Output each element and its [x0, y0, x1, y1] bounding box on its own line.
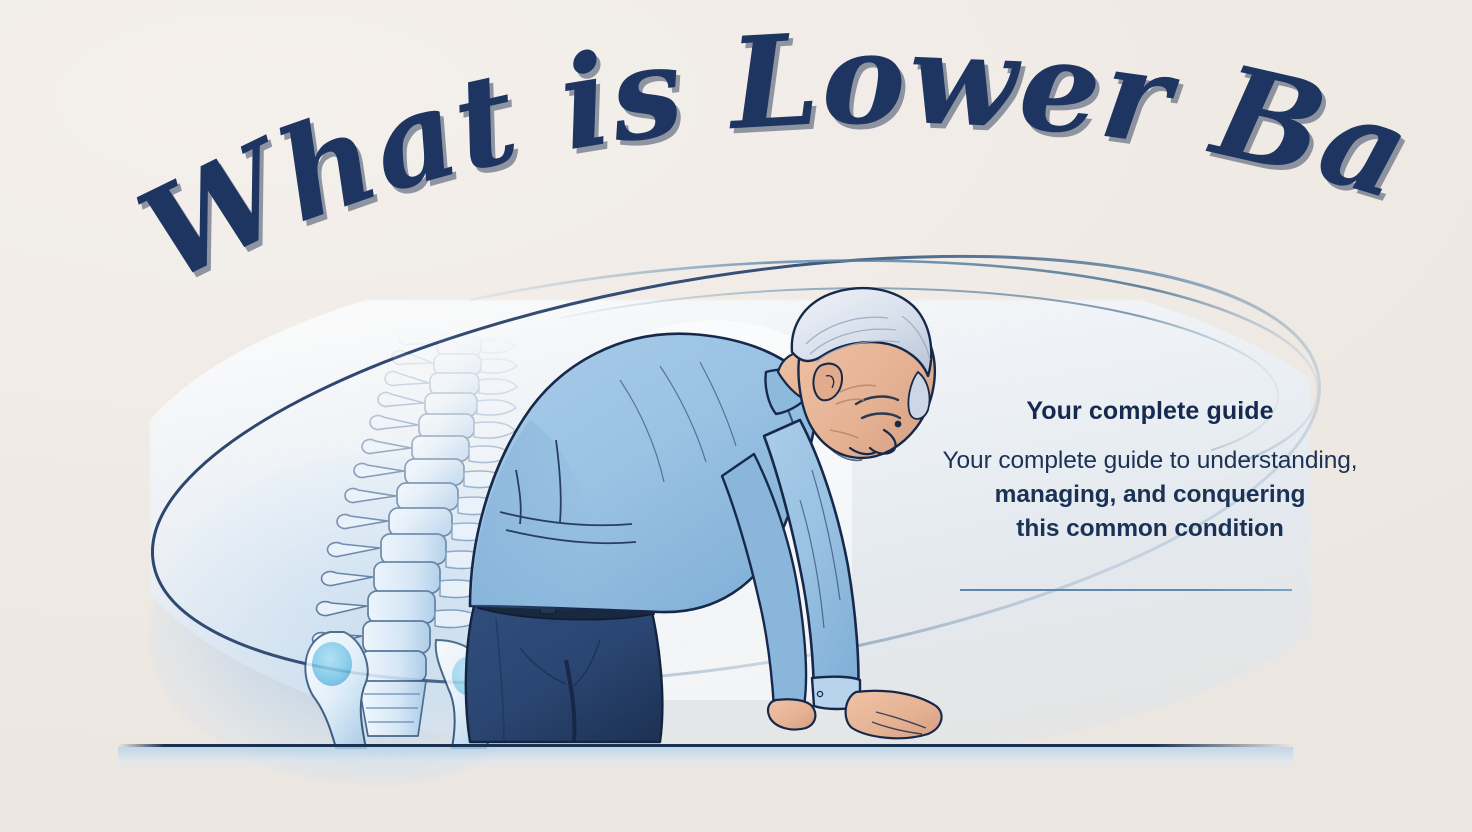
poster-title: What is Lower Back Pain What is Lower Ba…: [0, 0, 1472, 340]
poster-canvas: What is Lower Back Pain What is Lower Ba…: [0, 0, 1472, 832]
copy-line-1: Your complete guide to understanding,: [943, 447, 1358, 474]
copy-block: Your complete guide Your complete guide …: [900, 396, 1400, 546]
copy-body: Your complete guide to understanding, ma…: [900, 444, 1400, 546]
ground-gradient-band: [118, 747, 1293, 773]
copy-line-2: managing, and conquering: [995, 481, 1306, 508]
copy-line-3: this common condition: [1016, 515, 1283, 542]
title-text: What is Lower Back Pain: [0, 0, 1427, 310]
hand-near: [846, 691, 942, 738]
ground-line: [118, 744, 1293, 747]
copy-heading: Your complete guide: [900, 396, 1400, 426]
copy-divider-rule: [960, 589, 1292, 591]
